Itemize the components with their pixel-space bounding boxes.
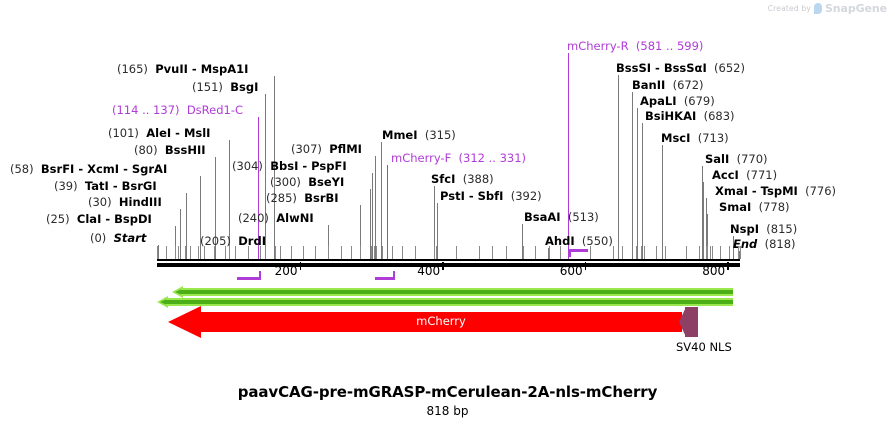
- restriction-cut-tick: [613, 246, 614, 259]
- restriction-cut-tick: [371, 246, 372, 259]
- plasmid-map: Created by SnapGene (165) PvuII - MspA1I…: [0, 0, 895, 424]
- restriction-cut-tick: [303, 246, 304, 259]
- restriction-cut-tick: [374, 246, 375, 259]
- restriction-cut-tick: [175, 246, 176, 259]
- restriction-cut-tick: [506, 246, 507, 259]
- restriction-cut-tick: [376, 246, 377, 259]
- restriction-cut-tick: [204, 246, 205, 259]
- primer-marker-mcherry-r-bar[interactable]: [569, 249, 588, 259]
- primer-bar-vertical: [393, 271, 395, 279]
- restriction-cut-tick: [280, 246, 281, 259]
- restriction-cut-tick: [402, 246, 403, 259]
- restriction-cut-tick: [656, 246, 657, 259]
- restriction-cut-tick: [275, 246, 276, 259]
- restriction-cut-tick: [712, 246, 713, 259]
- restriction-cut-tick: [492, 246, 493, 259]
- restriction-cut-tick: [699, 246, 700, 259]
- restriction-cut-tick: [315, 246, 316, 259]
- ruler-tick-label-200: 200: [275, 264, 300, 278]
- restriction-cut-tick: [225, 246, 226, 259]
- arrow-body: [685, 307, 698, 337]
- restriction-cut-tick: [166, 246, 167, 259]
- restriction-cut-tick: [382, 246, 383, 259]
- arrow-body: [181, 288, 733, 296]
- restriction-cut-tick: [479, 246, 480, 259]
- restriction-cut-tick: [248, 246, 249, 259]
- restriction-cut-tick: [456, 246, 457, 259]
- ruler-tick-label-600: 600: [560, 264, 585, 278]
- restriction-cut-tick: [740, 246, 741, 259]
- restriction-cut-tick: [229, 246, 230, 259]
- title-block: paavCAG-pre-mGRASP-mCerulean-2A-nls-mChe…: [0, 383, 895, 418]
- arrow-body: [166, 298, 733, 306]
- feature-green-lower[interactable]: [157, 298, 733, 306]
- restriction-cut-tick: [198, 246, 199, 259]
- primer-bar-horizontal: [569, 249, 588, 252]
- restriction-cut-tick: [686, 246, 687, 259]
- primer-bar-vertical: [259, 271, 261, 279]
- restriction-cut-tick: [157, 246, 158, 259]
- feature-green-upper[interactable]: [172, 288, 733, 296]
- restriction-cut-tick: [190, 246, 191, 259]
- restriction-cut-tick: [360, 246, 361, 259]
- feature-label-mcherry: mCherry: [200, 314, 682, 329]
- feature-label-sv40-nls: SV40 NLS: [676, 340, 732, 354]
- restriction-cut-tick: [265, 246, 266, 259]
- restriction-cut-tick: [351, 246, 352, 259]
- restriction-cut-tick: [641, 246, 642, 259]
- ruler-tick-600: [585, 262, 587, 270]
- ruler-tick-800: [727, 262, 729, 270]
- restriction-cut-tick: [178, 246, 179, 259]
- restriction-cut-tick: [707, 246, 708, 259]
- restriction-cut-tick: [392, 246, 393, 259]
- plasmid-size: 818 bp: [0, 404, 895, 418]
- restriction-cut-tick: [214, 246, 215, 259]
- restriction-cut-tick: [434, 246, 435, 259]
- page-title: paavCAG-pre-mGRASP-mCerulean-2A-nls-mChe…: [0, 383, 895, 401]
- ruler-tick-label-800: 800: [702, 264, 727, 278]
- restriction-cut-tick: [622, 246, 623, 259]
- restriction-cut-tick: [644, 246, 645, 259]
- primer-bar-vertical: [569, 249, 571, 257]
- feature-mcherry[interactable]: mCherry: [168, 306, 682, 338]
- restriction-cut-tick: [636, 246, 637, 259]
- restriction-cut-tick: [523, 246, 524, 259]
- ruler-tick-200: [300, 262, 302, 270]
- restriction-cut-tick: [328, 246, 329, 259]
- restriction-cut-tick: [291, 246, 292, 259]
- feature-sv40-nls[interactable]: [679, 307, 698, 337]
- primer-marker-mcherry-f-bar[interactable]: [375, 271, 395, 281]
- restriction-cut-tick: [415, 246, 416, 259]
- restriction-cut-tick: [535, 246, 536, 259]
- restriction-cut-tick: [590, 246, 591, 259]
- restriction-cut-tick: [560, 246, 561, 259]
- primer-bar-horizontal: [237, 277, 261, 280]
- ruler-tick-400: [442, 262, 444, 270]
- primer-bar-horizontal: [375, 277, 395, 280]
- restriction-cut-tick: [665, 246, 666, 259]
- restriction-cut-tick: [738, 246, 739, 259]
- ruler-bar: [157, 262, 740, 267]
- restriction-cut-tick: [185, 246, 186, 259]
- ruler-hairline: [157, 259, 740, 261]
- primer-marker-dsred1-c-bar[interactable]: [237, 271, 261, 281]
- sequence-ruler: 200400600800: [0, 0, 895, 290]
- arrow-head-icon: [168, 306, 201, 338]
- restriction-cut-tick: [729, 246, 730, 259]
- ruler-tick-label-400: 400: [417, 264, 442, 278]
- restriction-cut-tick: [436, 246, 437, 259]
- restriction-cut-tick: [260, 246, 261, 259]
- restriction-cut-tick: [235, 246, 236, 259]
- restriction-cut-tick: [549, 246, 550, 259]
- restriction-cut-tick: [720, 246, 721, 259]
- restriction-cut-tick: [341, 246, 342, 259]
